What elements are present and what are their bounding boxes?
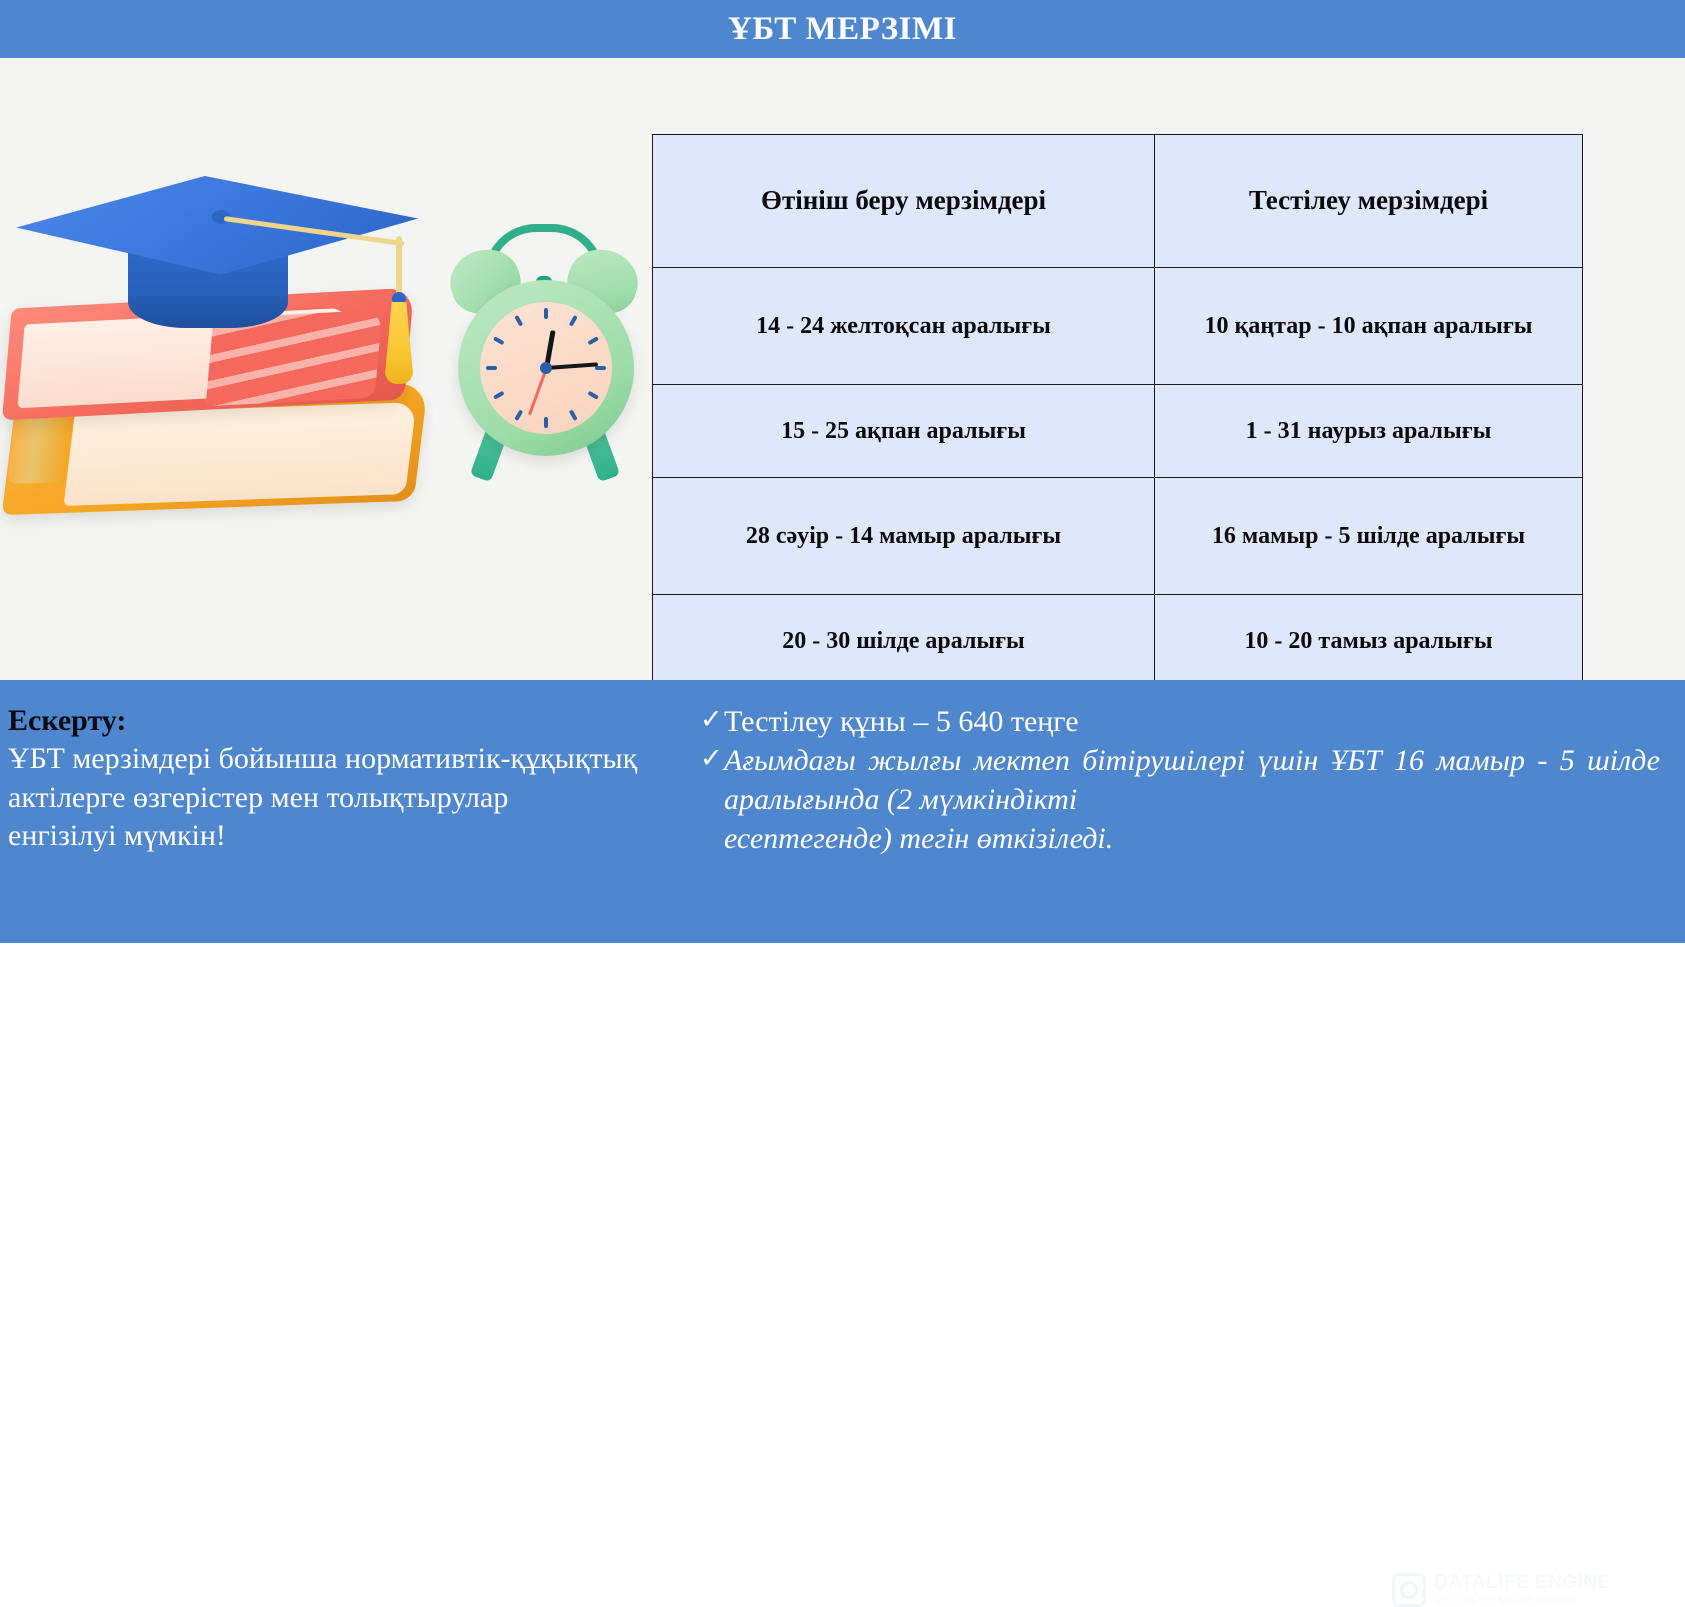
note-block: Ескерту: ҰБТ мерзімдері бойынша норматив… (8, 702, 668, 856)
book-orange-pages (63, 402, 416, 506)
cell-application-period: 28 сәуір - 14 мамыр аралығы (653, 478, 1155, 595)
bullet-item-test-fee: ✓ Тестілеу құны – 5 640 теңге (700, 702, 1660, 741)
check-icon: ✓ (700, 702, 724, 737)
bullet-text: Тестілеу құны – 5 640 теңге (724, 702, 1660, 741)
windows-activation-title: Активация Windows (1185, 1480, 1595, 1504)
cell-application-period: 15 - 25 ақпан аралығы (653, 385, 1155, 478)
bullet-list: ✓ Тестілеу құны – 5 640 теңге ✓ Ағымдағы… (700, 702, 1660, 858)
tassel-cord-vertical (396, 236, 402, 298)
clock-minute-hand (546, 362, 598, 370)
graduation-cap-icon (8, 176, 418, 288)
column-header-testing-period: Тестілеу мерзімдері (1155, 135, 1583, 268)
datalife-engine-name: DATALIFE ENGINE (1434, 1572, 1611, 1594)
exam-schedule-table: Өтініш беру мерзімдері Тестілеу мерзімде… (652, 134, 1583, 688)
cell-application-period: 20 - 30 шілде аралығы (653, 595, 1155, 688)
alarm-clock-face (480, 302, 612, 434)
windows-activation-watermark: Активация Windows Чтобы активировать Win… (1185, 1480, 1595, 1527)
note-line: актілерге өзгерістер мен толықтырулар (8, 779, 668, 817)
table-row: 20 - 30 шілде аралығы 10 - 20 тамыз арал… (653, 595, 1583, 688)
illustration-graduation-cap-books-clock (0, 158, 650, 578)
note-line: енгізілуі мүмкін! (8, 817, 668, 855)
cell-testing-period: 1 - 31 наурыз аралығы (1155, 385, 1583, 478)
datalife-engine-watermark: DATALIFE ENGINE SOFTNEWS MEDIA GROUP (1392, 1572, 1611, 1607)
note-label: Ескерту (8, 704, 116, 737)
note-colon: : (116, 704, 126, 737)
note-heading: Ескерту: (8, 702, 668, 740)
check-icon: ✓ (700, 741, 724, 776)
page-title: ҰБТ МЕРЗІМІ (728, 11, 957, 48)
datalife-engine-subtitle: SOFTNEWS MEDIA GROUP (1434, 1596, 1611, 1607)
footer-bar: Ескерту: ҰБТ мерзімдері бойынша норматив… (0, 680, 1685, 943)
table-header-row: Өтініш беру мерзімдері Тестілеу мерзімде… (653, 135, 1583, 268)
bullet-item-free-attempt: ✓ Ағымдағы жылғы мектеп бітірушілері үші… (700, 741, 1660, 858)
cell-testing-period: 16 мамыр - 5 шілде аралығы (1155, 478, 1583, 595)
slide-body: Өтініш беру мерзімдері Тестілеу мерзімде… (0, 58, 1685, 680)
bullet-text: Ағымдағы жылғы мектеп бітірушілері үшін … (724, 741, 1660, 858)
clock-center-pin (540, 362, 552, 374)
cell-testing-period: 10 - 20 тамыз аралығы (1155, 595, 1583, 688)
table-row: 28 сәуір - 14 мамыр аралығы 16 мамыр - 5… (653, 478, 1583, 595)
table-row: 14 - 24 желтоқсан аралығы 10 қаңтар - 10… (653, 268, 1583, 385)
cell-application-period: 14 - 24 желтоқсан аралығы (653, 268, 1155, 385)
clock-second-hand (527, 367, 547, 415)
windows-activation-subtitle: Чтобы активировать Windows, перейдите в … (1185, 1510, 1595, 1527)
note-line: ҰБТ мерзімдері бойынша нормативтік-құқық… (8, 740, 668, 778)
alarm-clock-icon (448, 218, 644, 488)
datalife-engine-logo-icon (1392, 1573, 1426, 1607)
table-row: 15 - 25 ақпан аралығы 1 - 31 наурыз арал… (653, 385, 1583, 478)
bullet-text-lastline: есептегенде) тегін өткізіледі. (724, 819, 1660, 858)
column-header-application-period: Өтініш беру мерзімдері (653, 135, 1155, 268)
header-bar: ҰБТ МЕРЗІМІ (0, 0, 1685, 58)
alarm-clock-body (458, 280, 634, 456)
cell-testing-period: 10 қаңтар - 10 ақпан аралығы (1155, 268, 1583, 385)
bullet-text-main: Ағымдағы жылғы мектеп бітірушілері үшін … (724, 744, 1660, 816)
